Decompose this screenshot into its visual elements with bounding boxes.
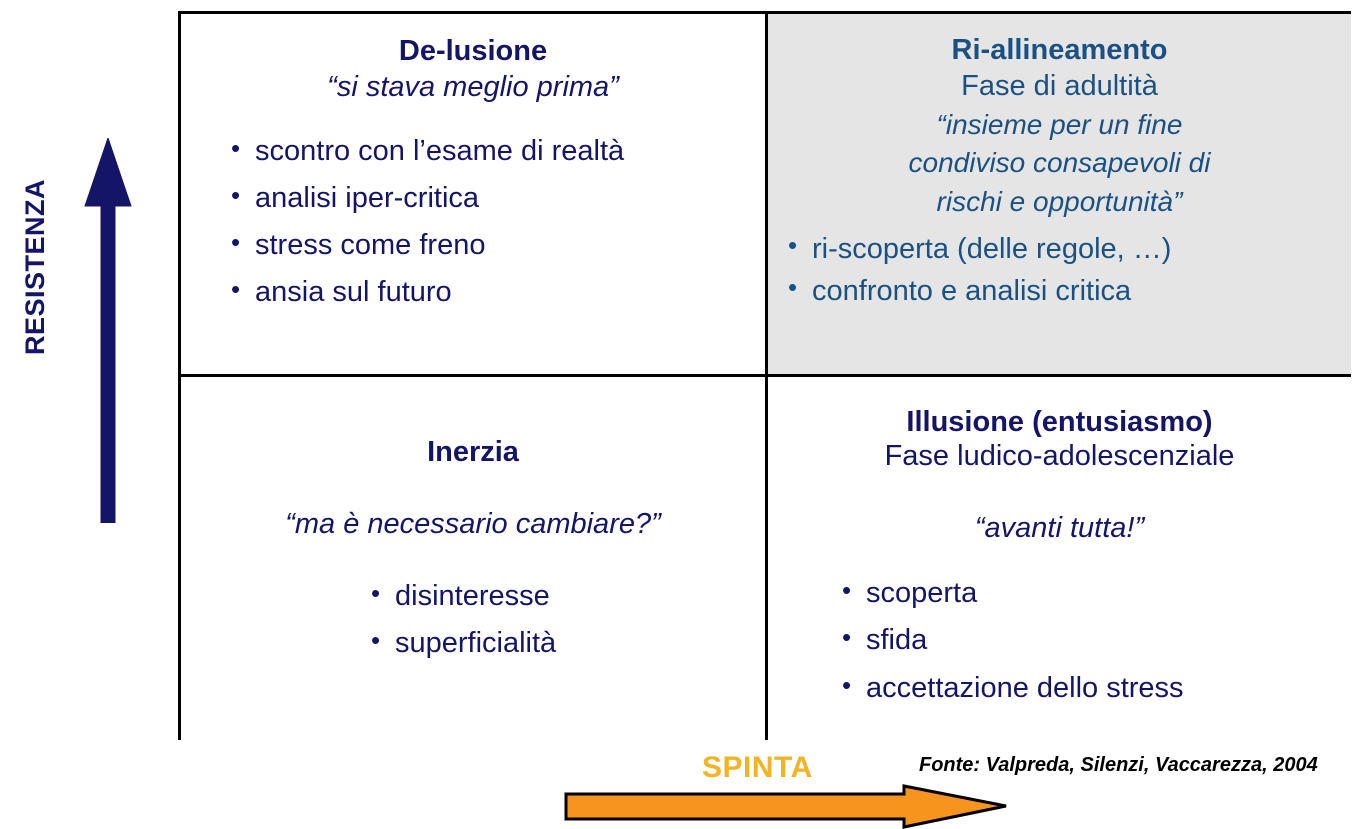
quadrant-title: Inerzia: [191, 435, 755, 469]
quadrant-de-lusione: De-lusione “si stava meglio prima” scont…: [181, 14, 768, 377]
quadrant-quote-line-1: “insieme per un fine: [778, 106, 1341, 144]
quadrant-quote: “si stava meglio prima”: [191, 70, 755, 105]
quadrant-ri-allineamento: Ri-allineamento Fase di adultità “insiem…: [768, 14, 1351, 377]
quadrant-bullet-list: ri-scoperta (delle regole, …) confronto …: [786, 228, 1341, 312]
list-item: confronto e analisi critica: [786, 270, 1341, 312]
resistenza-up-arrow-icon: [84, 138, 132, 523]
quadrant-bullet-list: scoperta sfida accettazione dello stress: [840, 570, 1341, 712]
list-item: scoperta: [840, 570, 1341, 617]
source-attribution: Fonte: Valpreda, Silenzi, Vaccarezza, 20…: [919, 754, 1318, 777]
diagram-canvas: RESISTENZA De-lusione “si stava meglio p…: [0, 0, 1359, 829]
list-item: disinteresse: [369, 573, 755, 620]
quadrant-title: Illusione (entusiasmo): [778, 405, 1341, 439]
list-item: accettazione dello stress: [840, 665, 1341, 712]
change-curve-matrix: De-lusione “si stava meglio prima” scont…: [178, 11, 1351, 740]
quadrant-bullet-list: scontro con l’esame di realtà analisi ip…: [229, 128, 755, 317]
list-item: sfida: [840, 617, 1341, 664]
resistenza-axis-label: RESISTENZA: [15, 152, 55, 382]
quadrant-subtitle: Fase di adultità: [778, 69, 1341, 104]
quadrant-title: Ri-allineamento: [778, 33, 1341, 67]
list-item: superficialità: [369, 620, 755, 667]
quadrant-inerzia: Inerzia “ma è necessario cambiare?” disi…: [181, 377, 768, 740]
spinta-axis-label: SPINTA: [702, 751, 813, 785]
resistenza-axis: RESISTENZA: [0, 0, 178, 740]
quadrant-title: De-lusione: [191, 34, 755, 68]
list-item: ri-scoperta (delle regole, …): [786, 228, 1341, 270]
list-item: analisi iper-critica: [229, 175, 755, 222]
list-item: scontro con l’esame di realtà: [229, 128, 755, 175]
quadrant-subtitle: Fase ludico-adolescenziale: [778, 439, 1341, 474]
quadrant-bullet-list: disinteresse superficialità: [369, 573, 755, 668]
quadrant-quote: “avanti tutta!”: [778, 511, 1341, 546]
quadrant-quote-line-3: rischi e opportunità”: [778, 183, 1341, 221]
list-item: ansia sul futuro: [229, 269, 755, 316]
quadrant-quote: “ma è necessario cambiare?”: [191, 507, 755, 542]
list-item: stress come freno: [229, 222, 755, 269]
quadrant-illusione: Illusione (entusiasmo) Fase ludico-adole…: [768, 377, 1351, 740]
spinta-right-arrow-icon: [564, 784, 1008, 829]
quadrant-quote-line-2: condiviso consapevoli di: [778, 144, 1341, 182]
